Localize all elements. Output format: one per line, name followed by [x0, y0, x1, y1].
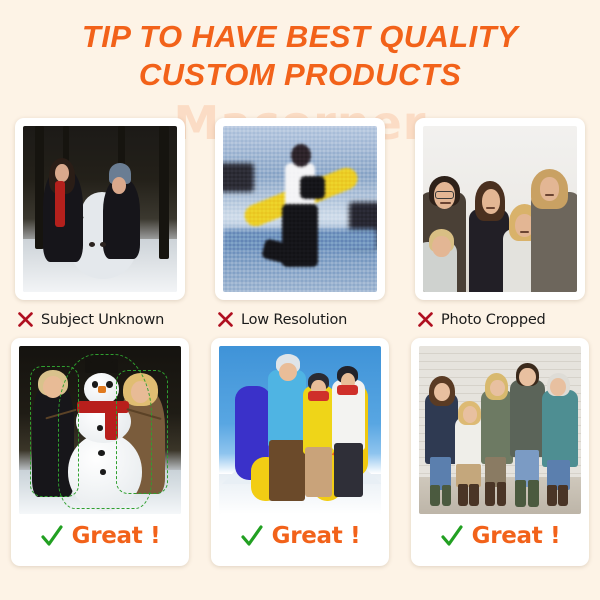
bad-examples-row: Subject Unknown — [0, 118, 600, 333]
bad-label-2: Low Resolution — [211, 311, 389, 328]
photo-card: Great ! — [211, 338, 389, 566]
photo-snowman-with-women-outlined — [19, 346, 181, 514]
photo-card: Great ! — [11, 338, 189, 566]
good-label-text: Great ! — [272, 523, 361, 549]
good-example-1: Great ! — [0, 338, 200, 578]
bad-label-3: Photo Cropped — [411, 311, 589, 328]
tip-infographic: Macorner TIP TO HAVE BEST QUALITY CUSTOM… — [0, 0, 600, 600]
x-mark-icon — [417, 311, 434, 328]
bad-example-3: Photo Cropped — [400, 118, 600, 333]
check-mark-icon — [40, 524, 64, 548]
good-label-text: Great ! — [472, 523, 561, 549]
photo-two-women-snowman-forest — [23, 126, 177, 292]
bad-example-2: Low Resolution — [200, 118, 400, 333]
photo-card: Great ! — [411, 338, 589, 566]
photo-pixelated-snowboarder — [223, 126, 377, 292]
selection-outline-snowman — [58, 354, 152, 509]
bad-label-1: Subject Unknown — [11, 311, 189, 328]
good-label-1: Great ! — [19, 514, 181, 558]
bad-label-text: Subject Unknown — [41, 312, 164, 328]
photo-card — [215, 118, 385, 300]
bad-label-text: Low Resolution — [241, 312, 347, 328]
x-mark-icon — [17, 311, 34, 328]
photo-family-cropped — [423, 126, 577, 292]
bad-example-1: Subject Unknown — [0, 118, 200, 333]
photo-card — [15, 118, 185, 300]
good-examples-row: Great ! — [0, 338, 600, 578]
photo-three-snowboarders — [219, 346, 381, 514]
good-label-3: Great ! — [419, 514, 581, 558]
title-line-2: CUSTOM PRODUCTS — [0, 56, 600, 94]
good-example-3: Great ! — [400, 338, 600, 578]
good-label-text: Great ! — [72, 523, 161, 549]
good-label-2: Great ! — [219, 514, 381, 558]
bad-label-text: Photo Cropped — [441, 312, 546, 328]
check-mark-icon — [240, 524, 264, 548]
page-title: TIP TO HAVE BEST QUALITY CUSTOM PRODUCTS — [0, 18, 600, 94]
photo-card — [415, 118, 585, 300]
title-line-1: TIP TO HAVE BEST QUALITY — [0, 18, 600, 56]
photo-family-at-barn — [419, 346, 581, 514]
x-mark-icon — [217, 311, 234, 328]
good-example-2: Great ! — [200, 338, 400, 578]
check-mark-icon — [440, 524, 464, 548]
